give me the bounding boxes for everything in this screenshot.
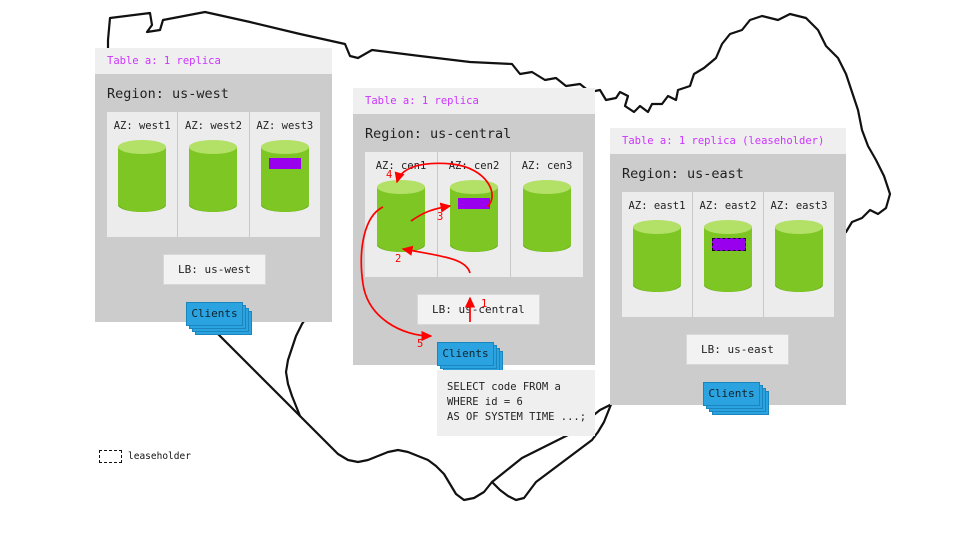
az-strip-us-east: AZ: east1 AZ: east2 [622,192,834,317]
az-label-east2: AZ: east2 [693,200,763,212]
legend-leaseholder: leaseholder [99,450,191,463]
node-cylinder-cen3[interactable] [523,180,571,252]
cylinder-body-east3 [775,227,823,292]
region-body-us-east: Region: us-east AZ: east1 AZ: east2 [610,154,846,405]
replica-west3[interactable] [269,158,301,169]
step-label-1: 1 [481,298,487,310]
cylinder-body-west3 [261,147,309,212]
az-cen3[interactable]: AZ: cen3 [511,152,583,277]
cylinder-body-east2 [704,227,752,292]
region-header-us-east: Table a: 1 replica (leaseholder) [610,128,846,154]
az-label-west1: AZ: west1 [107,120,177,132]
clients-us-west[interactable]: Clients [186,302,252,332]
cylinder-top-east2 [704,220,752,234]
load-balancer-us-west[interactable]: LB: us-west [163,254,266,285]
az-label-cen2: AZ: cen2 [438,160,510,172]
cylinder-body-cen3 [523,187,571,252]
node-cylinder-west3[interactable] [261,140,309,212]
diagram-canvas: Table a: 1 replica Region: us-west AZ: w… [0,0,960,540]
step-label-2: 2 [395,253,401,265]
node-cylinder-cen2[interactable] [450,180,498,252]
region-header-us-west: Table a: 1 replica [95,48,332,74]
node-cylinder-east3[interactable] [775,220,823,292]
az-label-west3: AZ: west3 [250,120,320,132]
cylinder-top-east1 [633,220,681,234]
region-body-us-central: Region: us-central AZ: cen1 AZ: cen2 [353,114,595,365]
node-cylinder-east2[interactable] [704,220,752,292]
az-east1[interactable]: AZ: east1 [622,192,693,317]
az-cen2[interactable]: AZ: cen2 [438,152,511,277]
sql-query-box: SELECT code FROM a WHERE id = 6 AS OF SY… [437,370,595,436]
region-title-us-west: Region: us-west [95,74,332,112]
clients-label-us-central: Clients [438,343,493,365]
region-panel-us-central: Table a: 1 replica Region: us-central AZ… [353,88,595,365]
az-label-east1: AZ: east1 [622,200,692,212]
clients-front-us-west[interactable]: Clients [186,302,243,326]
az-label-cen1: AZ: cen1 [365,160,437,172]
replica-cen2[interactable] [458,198,490,209]
cylinder-body-west1 [118,147,166,212]
region-panel-us-west: Table a: 1 replica Region: us-west AZ: w… [95,48,332,322]
cylinder-top-west3 [261,140,309,154]
legend-label: leaseholder [128,451,191,462]
az-label-cen3: AZ: cen3 [511,160,583,172]
node-cylinder-west2[interactable] [189,140,237,212]
cylinder-top-cen3 [523,180,571,194]
az-east3[interactable]: AZ: east3 [764,192,834,317]
az-label-west2: AZ: west2 [178,120,248,132]
region-title-us-east: Region: us-east [610,154,846,192]
load-balancer-us-central[interactable]: LB: us-central [417,294,540,325]
node-cylinder-cen1[interactable] [377,180,425,252]
replica-leaseholder-east2[interactable] [712,238,746,251]
dashed-rect-icon [99,450,122,463]
region-panel-us-east: Table a: 1 replica (leaseholder) Region:… [610,128,846,405]
cylinder-top-cen1 [377,180,425,194]
clients-us-east[interactable]: Clients [703,382,769,412]
clients-front-us-east[interactable]: Clients [703,382,760,406]
cylinder-top-east3 [775,220,823,234]
cylinder-top-cen2 [450,180,498,194]
cylinder-body-cen2 [450,187,498,252]
cylinder-body-west2 [189,147,237,212]
step-label-4: 4 [386,169,392,181]
step-label-5: 5 [417,338,423,350]
az-strip-us-west: AZ: west1 AZ: west2 AZ [107,112,320,237]
cylinder-body-cen1 [377,187,425,252]
az-west3[interactable]: AZ: west3 [250,112,320,237]
clients-label-us-west: Clients [187,303,242,325]
node-cylinder-east1[interactable] [633,220,681,292]
cylinder-body-east1 [633,227,681,292]
region-header-us-central: Table a: 1 replica [353,88,595,114]
clients-front-us-central[interactable]: Clients [437,342,494,366]
clients-us-central[interactable]: Clients [437,342,503,372]
az-cen1[interactable]: AZ: cen1 [365,152,438,277]
step-label-3: 3 [437,211,443,223]
load-balancer-us-east[interactable]: LB: us-east [686,334,789,365]
az-east2[interactable]: AZ: east2 [693,192,764,317]
az-west2[interactable]: AZ: west2 [178,112,249,237]
az-label-east3: AZ: east3 [764,200,834,212]
clients-label-us-east: Clients [704,383,759,405]
az-west1[interactable]: AZ: west1 [107,112,178,237]
cylinder-top-west1 [118,140,166,154]
region-body-us-west: Region: us-west AZ: west1 AZ: west2 [95,74,332,322]
node-cylinder-west1[interactable] [118,140,166,212]
region-title-us-central: Region: us-central [353,114,595,152]
